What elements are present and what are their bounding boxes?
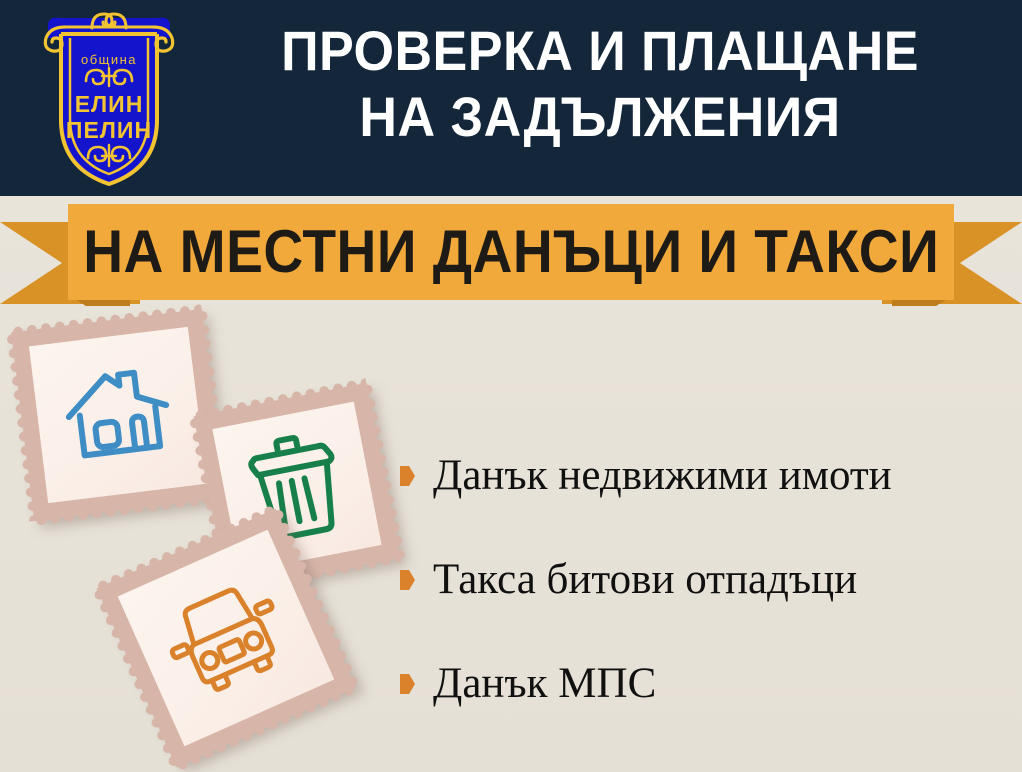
car-icon: [153, 570, 299, 707]
arrow-bullet-icon: [400, 570, 415, 590]
arrow-bullet-icon: [400, 674, 415, 694]
list-item-label: Данък недвижими имоти: [433, 452, 892, 500]
list-item[interactable]: Данък недвижими имоти: [400, 424, 1010, 528]
svg-text:ПЕЛИН: ПЕЛИН: [66, 117, 152, 143]
title-line-2: НА ЗАДЪЛЖЕНИЯ: [219, 84, 982, 150]
list-item-label: Такса битови отпадъци: [433, 556, 857, 604]
stamp-paper: [29, 327, 207, 503]
list-item[interactable]: Такса битови отпадъци: [400, 528, 1010, 632]
svg-text:община: община: [81, 52, 137, 67]
header-bar: община ЕЛИН ПЕЛИН ПРОВЕРКА И ПЛАЩАНЕ НА …: [0, 0, 1022, 196]
arrow-bullet-icon: [400, 466, 415, 486]
ribbon-text: НА МЕСТНИ ДАНЪЦИ И ТАКСИ: [83, 222, 939, 282]
subtitle-ribbon: НА МЕСТНИ ДАНЪЦИ И ТАКСИ: [0, 196, 1022, 312]
poster-root: община ЕЛИН ПЕЛИН ПРОВЕРКА И ПЛАЩАНЕ НА …: [0, 0, 1022, 772]
coat-of-arms-icon: община ЕЛИН ПЕЛИН: [30, 8, 188, 188]
ribbon-banner: НА МЕСТНИ ДАНЪЦИ И ТАКСИ: [68, 204, 954, 300]
title-line-1: ПРОВЕРКА И ПЛАЩАНЕ: [219, 18, 982, 84]
list-item-label: Данък МПС: [433, 660, 656, 708]
service-list: Данък недвижими имоти Такса битови отпад…: [400, 424, 1010, 736]
poster-title: ПРОВЕРКА И ПЛАЩАНЕ НА ЗАДЪЛЖЕНИЯ: [190, 18, 1010, 150]
list-item[interactable]: Данък МПС: [400, 632, 1010, 736]
svg-text:ЕЛИН: ЕЛИН: [75, 91, 144, 117]
house-icon: [57, 359, 178, 472]
municipality-logo: община ЕЛИН ПЕЛИН: [30, 8, 188, 188]
